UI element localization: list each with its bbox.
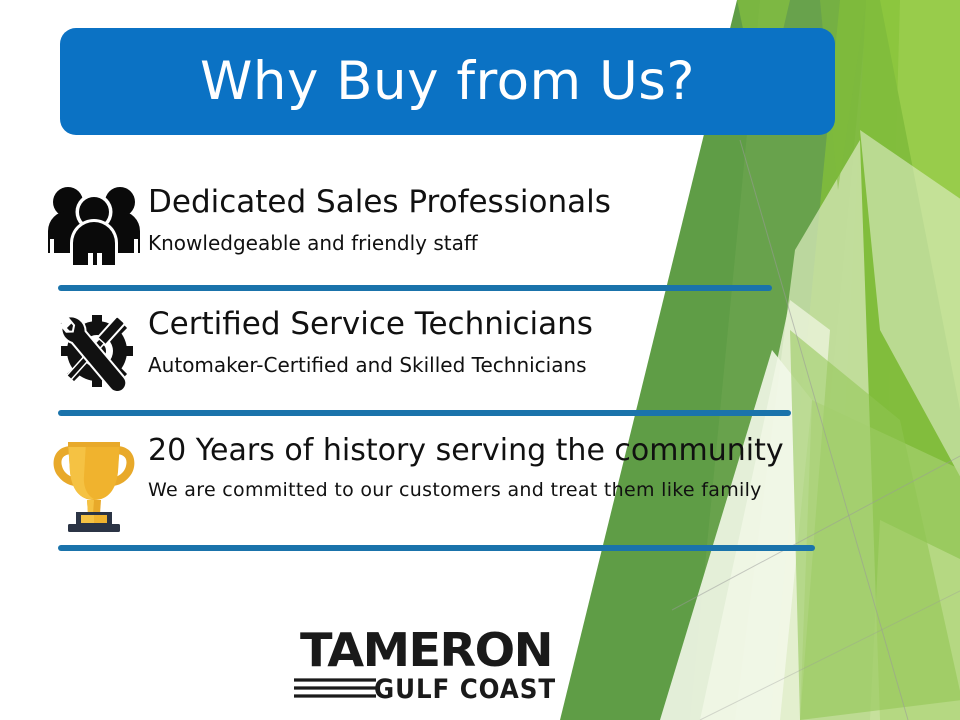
logo-primary-text: TAMERON	[300, 623, 552, 677]
slide-canvas: Why Buy from Us?	[0, 0, 960, 720]
trophy-icon	[40, 432, 148, 532]
feature-row: Certified Service Technicians Automaker-…	[40, 305, 593, 393]
section-divider	[58, 545, 815, 551]
title-banner: Why Buy from Us?	[60, 28, 835, 135]
section-divider	[58, 285, 772, 291]
group-of-people-icon	[40, 183, 148, 267]
logo-rule-lines	[294, 680, 376, 696]
feature-heading: Dedicated Sales Professionals	[148, 185, 611, 220]
logo-secondary-text: GULF COAST	[374, 674, 556, 705]
wrench-gear-screwdriver-icon	[40, 305, 148, 393]
feature-subtext: We are committed to our customers and tr…	[148, 479, 784, 502]
feature-text-block: Certified Service Technicians Automaker-…	[148, 305, 593, 377]
feature-row: 20 Years of history serving the communit…	[40, 432, 784, 532]
feature-text-block: 20 Years of history serving the communit…	[148, 432, 784, 501]
feature-subtext: Knowledgeable and friendly staff	[148, 231, 611, 255]
feature-heading: 20 Years of history serving the communit…	[148, 434, 784, 468]
feature-text-block: Dedicated Sales Professionals Knowledgea…	[148, 183, 611, 255]
feature-row: Dedicated Sales Professionals Knowledgea…	[40, 183, 611, 267]
feature-heading: Certified Service Technicians	[148, 307, 593, 342]
section-divider	[58, 410, 791, 416]
feature-subtext: Automaker-Certified and Skilled Technici…	[148, 353, 593, 377]
page-title: Why Buy from Us?	[200, 55, 695, 108]
tameron-gulf-coast-logo: TAMERON GULF COAST	[292, 622, 560, 708]
